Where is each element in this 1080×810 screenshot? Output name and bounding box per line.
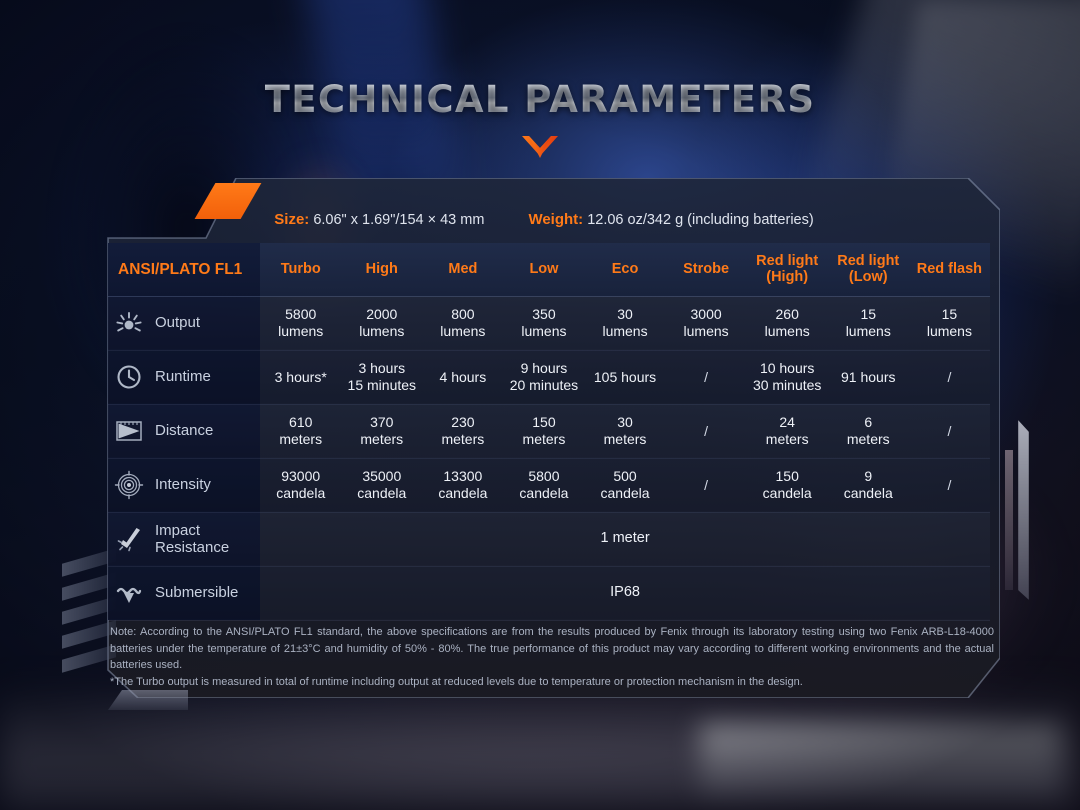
row-label-impact-resistance: ImpactResistance: [108, 512, 260, 566]
table-cell: /: [666, 404, 747, 458]
page-title-wrapper: TECHNICAL PARAMETERS: [0, 78, 1080, 121]
table-cell: 10 hours30 minutes: [747, 350, 828, 404]
row-label-distance: Distance: [108, 404, 260, 458]
table-cell: 30meters: [584, 404, 665, 458]
size-group: Size: 6.06" x 1.69"/154 × 43 mm: [274, 211, 484, 228]
row-label-text: ImpactResistance: [155, 522, 229, 556]
table-cell: 91 hours: [828, 350, 909, 404]
row-label-text: Output: [155, 314, 200, 331]
spec-table-corner-header: ANSI/PLATO FL1: [108, 243, 260, 296]
table-cell: /: [666, 350, 747, 404]
spec-table-header-row: ANSI/PLATO FL1TurboHighMedLowEcoStrobeRe…: [108, 243, 990, 296]
spec-table-head: ANSI/PLATO FL1TurboHighMedLowEcoStrobeRe…: [108, 243, 990, 296]
row-label-intensity: Intensity: [108, 458, 260, 512]
right-edge-accent: [1018, 420, 1029, 600]
target-icon: [114, 470, 144, 500]
row-label-text: Runtime: [155, 368, 211, 385]
table-row: Distance610meters370meters230meters150me…: [108, 404, 990, 458]
table-cell: 15lumens: [909, 296, 990, 350]
row-label-text: Distance: [155, 422, 213, 439]
table-cell: 800lumens: [422, 296, 503, 350]
table-cell: /: [909, 404, 990, 458]
size-value: 6.06" x 1.69"/154 × 43 mm: [313, 212, 484, 228]
table-cell: 260lumens: [747, 296, 828, 350]
table-cell: 13300candela: [422, 458, 503, 512]
table-cell: 24meters: [747, 404, 828, 458]
table-cell-span: IP68: [260, 566, 990, 620]
bottom-left-corner-tab: [108, 690, 188, 710]
spec-table-header-turbo: Turbo: [260, 243, 341, 296]
table-cell: 9 hours20 minutes: [503, 350, 584, 404]
impact-icon: [114, 524, 144, 554]
table-row: Output5800lumens2000lumens800lumens350lu…: [108, 296, 990, 350]
size-label: Size:: [274, 211, 309, 228]
spec-table: ANSI/PLATO FL1TurboHighMedLowEcoStrobeRe…: [108, 243, 990, 621]
table-cell: 370meters: [341, 404, 422, 458]
table-cell: /: [666, 458, 747, 512]
table-cell: 610meters: [260, 404, 341, 458]
spec-table-header-red-light-high: Red light(High): [747, 243, 828, 296]
spec-table-header-med: Med: [422, 243, 503, 296]
weight-group: Weight: 12.06 oz/342 g (including batter…: [528, 211, 813, 228]
spec-table-header-strobe: Strobe: [666, 243, 747, 296]
row-label-output: Output: [108, 296, 260, 350]
chevron-down-decoration: [0, 134, 1080, 165]
table-cell: /: [909, 458, 990, 512]
clock-icon: [114, 362, 144, 392]
table-cell: 350lumens: [503, 296, 584, 350]
table-cell: 4 hours: [422, 350, 503, 404]
table-cell-span: 1 meter: [260, 512, 990, 566]
water-icon: [114, 578, 144, 608]
weight-label: Weight:: [528, 211, 583, 228]
footnote-line-1: Note: According to the ANSI/PLATO FL1 st…: [110, 624, 994, 674]
table-cell: /: [909, 350, 990, 404]
table-cell: 9candela: [828, 458, 909, 512]
weight-value: 12.06 oz/342 g (including batteries): [587, 212, 814, 228]
table-cell: 35000candela: [341, 458, 422, 512]
table-row: Intensity93000candela35000candela13300ca…: [108, 458, 990, 512]
table-cell: 105 hours: [584, 350, 665, 404]
spec-table-body: Output5800lumens2000lumens800lumens350lu…: [108, 296, 990, 620]
footnote: Note: According to the ANSI/PLATO FL1 st…: [110, 624, 994, 691]
beam-icon: [114, 416, 144, 446]
spec-table-header-red-light-low: Red light(Low): [828, 243, 909, 296]
table-row: ImpactResistance1 meter: [108, 512, 990, 566]
table-cell: 150meters: [503, 404, 584, 458]
page-title: TECHNICAL PARAMETERS: [265, 78, 816, 121]
spec-table-header-eco: Eco: [584, 243, 665, 296]
right-edge-accent-secondary: [1005, 450, 1013, 590]
table-cell: 3000lumens: [666, 296, 747, 350]
row-label-runtime: Runtime: [108, 350, 260, 404]
footnote-line-2: *The Turbo output is measured in total o…: [110, 674, 994, 691]
table-cell: 30lumens: [584, 296, 665, 350]
table-cell: 5800lumens: [260, 296, 341, 350]
sunburst-icon: [114, 308, 144, 338]
spec-table-header-low: Low: [503, 243, 584, 296]
table-cell: 93000candela: [260, 458, 341, 512]
row-label-text: Submersible: [155, 584, 238, 601]
size-weight-bar: Size: 6.06" x 1.69"/154 × 43 mm Weight: …: [88, 204, 1000, 234]
table-cell: 6meters: [828, 404, 909, 458]
table-cell: 500candela: [584, 458, 665, 512]
table-cell: 3 hours15 minutes: [341, 350, 422, 404]
table-cell: 230meters: [422, 404, 503, 458]
table-cell: 5800candela: [503, 458, 584, 512]
table-row: SubmersibleIP68: [108, 566, 990, 620]
table-cell: 150candela: [747, 458, 828, 512]
row-label-submersible: Submersible: [108, 566, 260, 620]
spec-table-header-high: High: [341, 243, 422, 296]
spec-table-header-red-flash: Red flash: [909, 243, 990, 296]
table-cell: 15lumens: [828, 296, 909, 350]
table-row: Runtime3 hours*3 hours15 minutes4 hours9…: [108, 350, 990, 404]
table-cell: 2000lumens: [341, 296, 422, 350]
row-label-text: Intensity: [155, 476, 211, 493]
table-cell: 3 hours*: [260, 350, 341, 404]
chevron-down-icon: [520, 134, 560, 160]
